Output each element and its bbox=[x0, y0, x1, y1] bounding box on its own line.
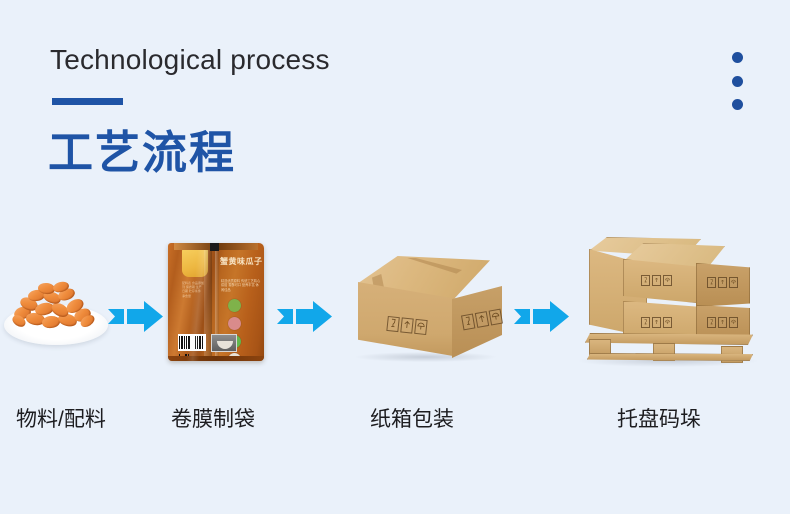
keep-dry-umbrella-icon bbox=[729, 277, 738, 288]
pallet-symbols-lower-right bbox=[707, 317, 738, 328]
flow-step-2-label: 卷膜制袋 bbox=[171, 403, 255, 433]
pallet-symbols-upper-right bbox=[707, 277, 738, 288]
slide-canvas: Technological process 工艺流程 bbox=[0, 0, 790, 514]
pallet-symbols-lower-left bbox=[641, 317, 672, 328]
fragile-icon bbox=[386, 316, 400, 332]
fragile-icon bbox=[707, 317, 716, 328]
fragile-icon bbox=[707, 277, 716, 288]
bag-ingredients-text: 配料表 食品添加剂 保质期 生产日期 贮存条件 净含量 bbox=[182, 281, 204, 298]
this-way-up-icon bbox=[718, 317, 727, 328]
flow-step-1-material-image bbox=[4, 283, 108, 345]
this-way-up-icon bbox=[400, 317, 414, 333]
bag-barcode bbox=[178, 334, 206, 351]
keep-dry-umbrella-icon bbox=[729, 317, 738, 328]
page-title-chinese: 工艺流程 bbox=[48, 116, 236, 181]
bag-product-name: 蟹黄味瓜子 bbox=[220, 257, 262, 266]
arrow-right-icon-2 bbox=[277, 300, 332, 333]
peanut-pile bbox=[10, 283, 102, 333]
menu-dot-3 bbox=[732, 99, 743, 110]
bag-tear-notch bbox=[210, 243, 219, 251]
keep-dry-umbrella-icon bbox=[663, 317, 672, 328]
this-way-up-icon bbox=[652, 275, 661, 286]
flow-step-2-bag-image: 蟹黄味瓜子 精选优质原料 传统工艺精心烘焙 香酥可口 营养丰富 休闲佳品 配料表… bbox=[168, 243, 264, 361]
this-way-up-icon bbox=[718, 277, 727, 288]
bag-bottom-seal bbox=[168, 356, 264, 361]
flow-step-3-carton-image bbox=[340, 256, 508, 362]
keep-dry-umbrella-icon bbox=[489, 309, 503, 326]
snack-bag-body: 蟹黄味瓜子 精选优质原料 传统工艺精心烘焙 香酥可口 营养丰富 休闲佳品 配料表… bbox=[168, 243, 264, 361]
bag-feature-icon-1 bbox=[228, 299, 241, 312]
arrow-right-icon-1 bbox=[108, 300, 163, 333]
this-way-up-icon bbox=[652, 317, 661, 328]
flow-step-4-pallet-image bbox=[575, 233, 760, 365]
fragile-icon bbox=[641, 275, 650, 286]
fragile-icon bbox=[461, 314, 475, 331]
carton-drop-shadow bbox=[356, 352, 496, 362]
keep-dry-umbrella-icon bbox=[663, 275, 672, 286]
fragile-icon bbox=[641, 317, 650, 328]
flow-step-4-label: 托盘码垛 bbox=[617, 403, 701, 433]
arrow-right-icon-3 bbox=[514, 300, 569, 333]
title-divider-bar bbox=[52, 98, 123, 105]
flow-step-3-label: 纸箱包装 bbox=[370, 403, 454, 433]
this-way-up-icon bbox=[475, 311, 489, 328]
menu-dot-2 bbox=[732, 76, 743, 87]
pallet-symbols-upper-left bbox=[641, 275, 672, 286]
more-options-menu-icon[interactable] bbox=[729, 52, 745, 110]
flow-step-1-label: 物料/配料 bbox=[16, 403, 106, 433]
bag-feature-icon-2 bbox=[228, 317, 241, 330]
menu-dot-1 bbox=[732, 52, 743, 63]
bag-description-text: 精选优质原料 传统工艺精心烘焙 香酥可口 营养丰富 休闲佳品 bbox=[221, 279, 261, 292]
bag-product-photo bbox=[211, 334, 237, 352]
page-subtitle-english: Technological process bbox=[50, 44, 330, 76]
keep-dry-umbrella-icon bbox=[414, 319, 428, 335]
